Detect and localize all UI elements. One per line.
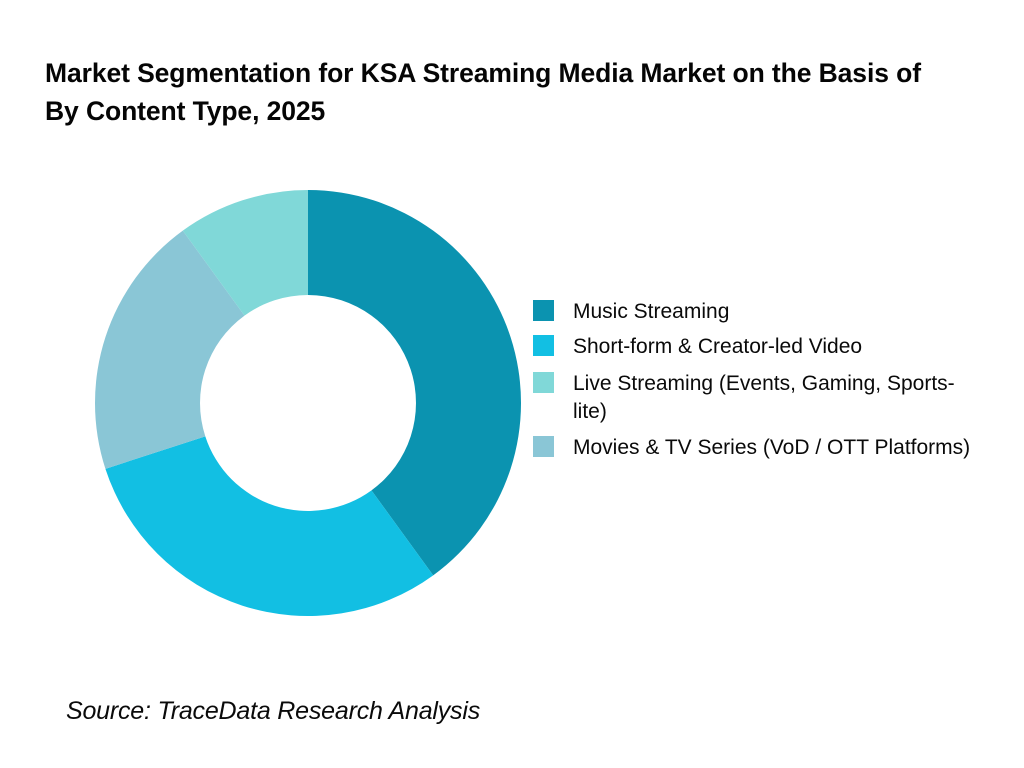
- legend-label-1: Short-form & Creator-led Video: [573, 333, 862, 361]
- donut-chart-svg: [95, 190, 521, 616]
- legend-swatch-icon-0: [533, 300, 554, 321]
- legend-item-movies-tv-series[interactable]: Movies & TV Series (VoD / OTT Platforms): [533, 434, 1003, 462]
- legend-swatch-icon-3: [533, 436, 554, 457]
- chart-legend: Music Streaming Short-form & Creator-led…: [533, 298, 1003, 468]
- donut-slice-group: [95, 190, 521, 616]
- page-title: Market Segmentation for KSA Streaming Me…: [45, 55, 945, 130]
- legend-label-2: Live Streaming (Events, Gaming, Sports-l…: [573, 370, 973, 426]
- donut-chart: [95, 190, 521, 616]
- donut-slice-1[interactable]: [105, 436, 433, 616]
- source-note: Source: TraceData Research Analysis: [66, 697, 480, 726]
- chart-page: Market Segmentation for KSA Streaming Me…: [0, 0, 1024, 768]
- legend-item-music-streaming[interactable]: Music Streaming: [533, 298, 1003, 326]
- legend-swatch-icon-1: [533, 335, 554, 356]
- legend-swatch-icon-2: [533, 372, 554, 393]
- legend-item-live-streaming[interactable]: Live Streaming (Events, Gaming, Sports-l…: [533, 370, 1003, 426]
- legend-label-0: Music Streaming: [573, 298, 729, 326]
- legend-item-short-form-creator-led-video[interactable]: Short-form & Creator-led Video: [533, 333, 1003, 361]
- legend-label-3: Movies & TV Series (VoD / OTT Platforms): [573, 434, 970, 462]
